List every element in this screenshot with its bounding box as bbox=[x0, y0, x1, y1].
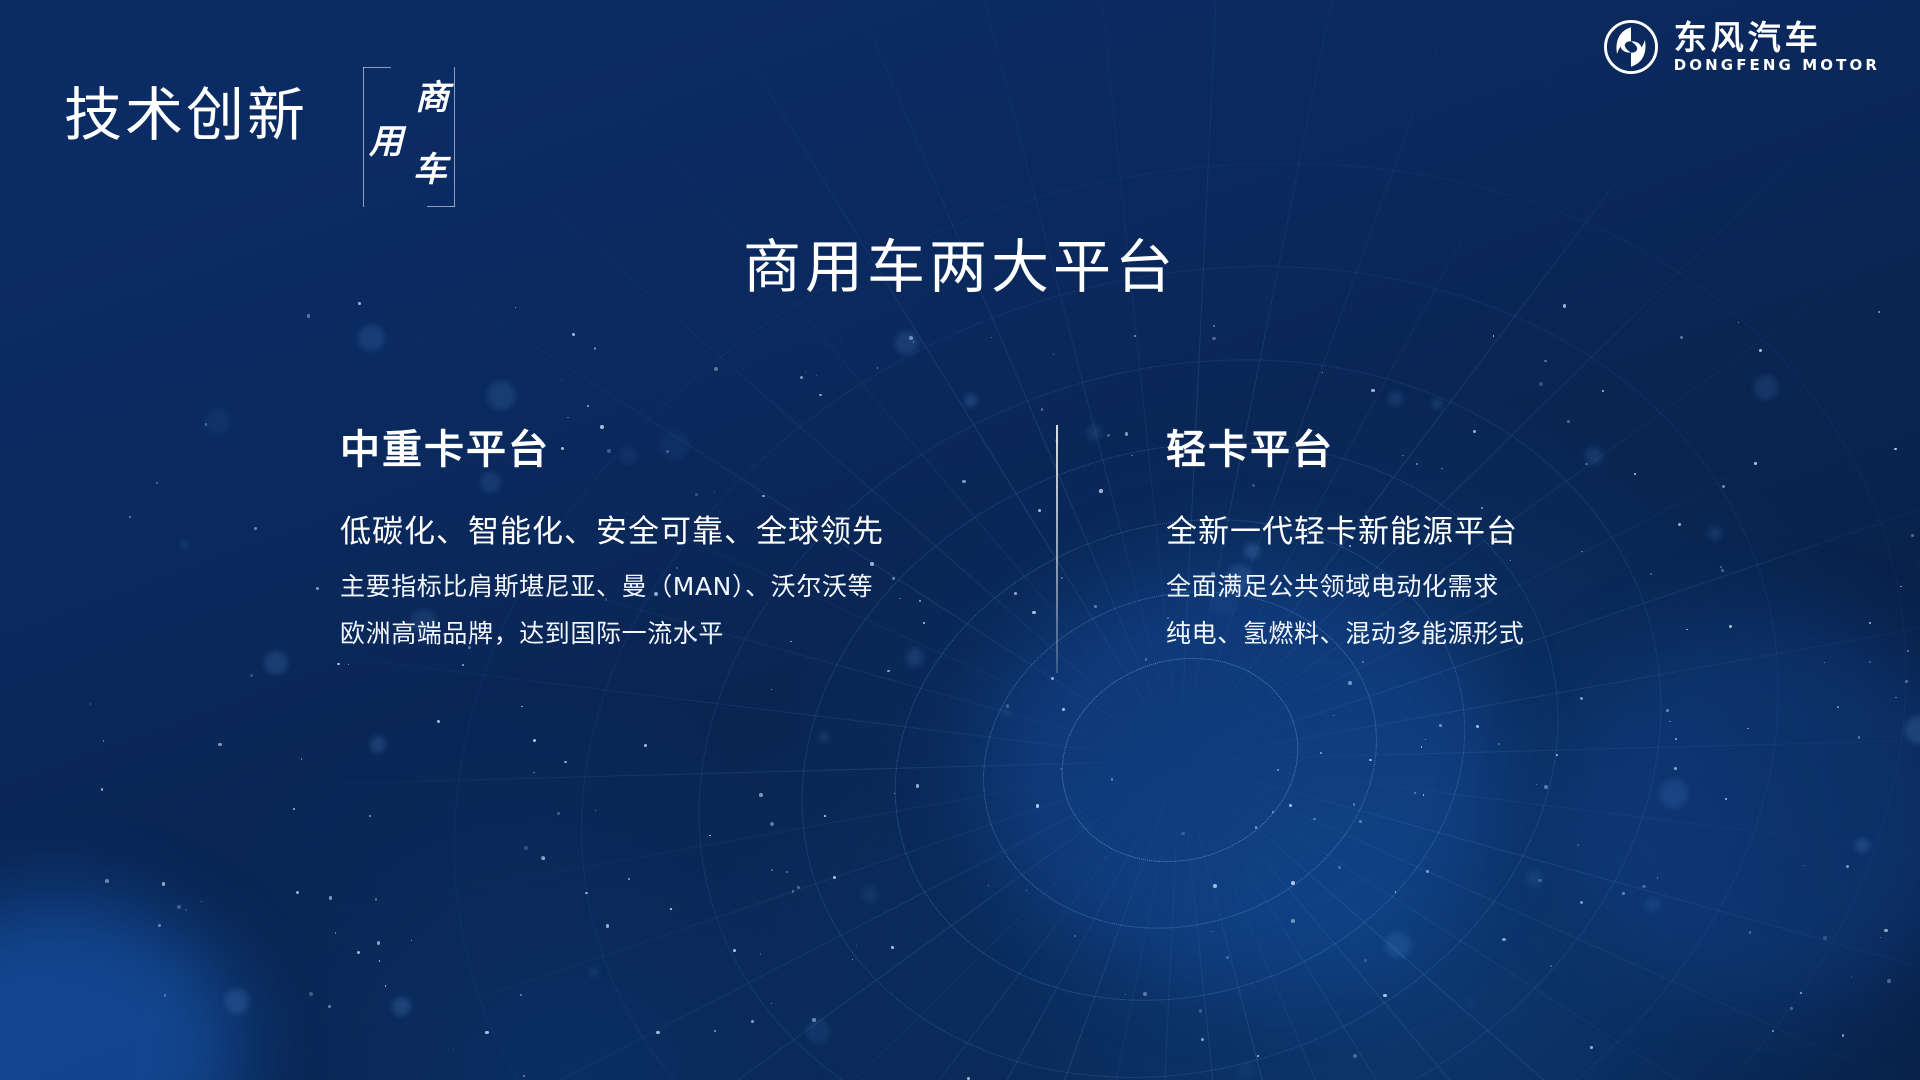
particle-dot bbox=[521, 706, 523, 708]
particle-dot bbox=[1657, 877, 1659, 879]
particle-dot bbox=[105, 879, 109, 883]
particle-dot bbox=[877, 367, 879, 369]
particle-dot bbox=[1905, 716, 1920, 745]
particle-dot bbox=[379, 960, 380, 961]
particle-dot bbox=[524, 846, 528, 850]
column-lead-text: 全新一代轻卡新能源平台 bbox=[1166, 517, 1806, 548]
particle-dot bbox=[792, 890, 795, 893]
particle-dot bbox=[1213, 325, 1215, 327]
particle-dot bbox=[1051, 677, 1054, 680]
particle-dot bbox=[991, 337, 992, 338]
particle-dot bbox=[375, 898, 378, 901]
particle-dot bbox=[369, 815, 371, 817]
particle-dot bbox=[1094, 605, 1097, 608]
particle-dot bbox=[771, 869, 774, 872]
dongfeng-emblem-icon bbox=[1602, 18, 1660, 76]
particle-dot bbox=[1383, 994, 1387, 998]
particle-dot bbox=[589, 968, 598, 977]
particle-dot bbox=[1369, 759, 1372, 762]
particle-dot bbox=[606, 924, 609, 927]
particle-dot bbox=[1272, 811, 1274, 813]
particle-dot bbox=[824, 815, 825, 816]
particle-dot bbox=[805, 371, 806, 372]
particle-dot bbox=[1038, 509, 1041, 512]
particle-dot bbox=[1502, 938, 1505, 941]
particle-dot bbox=[185, 909, 187, 911]
particle-dot bbox=[1421, 746, 1423, 748]
particle-dot bbox=[733, 949, 736, 952]
particle-dot bbox=[162, 882, 166, 886]
particle-dot bbox=[1823, 936, 1827, 940]
particle-dot bbox=[819, 394, 822, 397]
particle-dot bbox=[1338, 866, 1341, 869]
particle-dot bbox=[800, 376, 803, 379]
particle-dot bbox=[1388, 391, 1403, 406]
particle-dot bbox=[1759, 349, 1762, 352]
logo-text-en: DONGFENG MOTOR bbox=[1674, 58, 1880, 73]
particle-dot bbox=[437, 720, 440, 723]
particle-dot bbox=[1255, 826, 1258, 829]
particle-dot bbox=[90, 703, 92, 705]
particle-dot bbox=[392, 997, 411, 1016]
particle-dot bbox=[1580, 901, 1583, 904]
particle-dot bbox=[103, 740, 105, 742]
particle-dot bbox=[316, 587, 319, 590]
particle-dot bbox=[1466, 998, 1476, 1008]
particle-dot bbox=[1359, 820, 1362, 823]
particle-dot bbox=[377, 941, 380, 944]
particle-dot bbox=[561, 380, 562, 381]
particle-dot bbox=[1887, 979, 1891, 983]
particle-dot bbox=[587, 405, 589, 407]
particle-dot bbox=[1590, 1046, 1593, 1049]
particle-dot bbox=[1061, 577, 1063, 579]
particle-dot bbox=[819, 732, 829, 742]
particle-dot bbox=[543, 858, 545, 860]
particle-dot bbox=[1014, 592, 1017, 595]
particle-dot bbox=[1353, 1054, 1357, 1058]
particle-dot bbox=[533, 772, 534, 773]
particle-dot bbox=[585, 892, 587, 894]
particle-dot bbox=[1544, 360, 1546, 362]
particle-dot bbox=[1313, 818, 1316, 821]
seal-char-shang: 商 bbox=[415, 81, 449, 115]
particle-dot bbox=[1900, 586, 1902, 588]
particle-dot bbox=[1772, 1030, 1774, 1032]
particle-dot bbox=[1556, 754, 1558, 756]
particle-dot bbox=[856, 945, 857, 946]
particle-dot bbox=[759, 793, 763, 797]
particle-dot bbox=[1837, 706, 1839, 708]
particle-dot bbox=[840, 341, 841, 342]
particle-dot bbox=[1907, 650, 1909, 652]
particle-dot bbox=[600, 425, 604, 429]
platform-column-medium-heavy-truck: 中重卡平台 低碳化、智能化、安全可靠、全球领先 主要指标比肩斯堪尼亚、曼（MAN… bbox=[340, 430, 1000, 668]
column-heading: 中重卡平台 bbox=[340, 430, 1000, 470]
logo-text-cn: 东风汽车 bbox=[1674, 21, 1880, 54]
particle-dot bbox=[1804, 865, 1805, 866]
main-heading: 商用车两大平台 bbox=[0, 238, 1920, 296]
particle-dot bbox=[370, 736, 386, 752]
particle-dot bbox=[1201, 1038, 1204, 1041]
particle-dot bbox=[751, 1020, 754, 1023]
particle-dot bbox=[335, 932, 337, 934]
glow-bottom-left bbox=[0, 900, 240, 1080]
seal-commercial-vehicle: 商 用 车 bbox=[363, 67, 455, 207]
particle-dot bbox=[1725, 798, 1727, 800]
particle-dot bbox=[1237, 1061, 1256, 1080]
particle-dot bbox=[1107, 434, 1109, 436]
particle-dot bbox=[1646, 898, 1659, 911]
particle-dot bbox=[1800, 992, 1802, 994]
particle-dot bbox=[572, 333, 575, 336]
particle-dot bbox=[557, 812, 560, 815]
particle-dot bbox=[358, 302, 361, 305]
particle-dot bbox=[1125, 432, 1128, 435]
particle-dot bbox=[1111, 778, 1113, 780]
particle-dot bbox=[218, 743, 221, 746]
particle-dot bbox=[1790, 1007, 1792, 1009]
column-detail-line: 纯电、氢燃料、混动多能源形式 bbox=[1166, 621, 1806, 646]
particle-dot bbox=[916, 784, 919, 787]
particle-dot bbox=[1680, 336, 1683, 339]
particle-dot bbox=[1131, 455, 1132, 456]
particle-dot bbox=[520, 994, 522, 996]
particle-dot bbox=[1824, 662, 1825, 663]
particle-dot bbox=[770, 822, 774, 826]
particle-dot bbox=[786, 871, 788, 873]
seal-char-yong: 用 bbox=[369, 125, 403, 159]
particle-dot bbox=[567, 417, 569, 419]
particle-dot bbox=[656, 1031, 659, 1034]
particle-dot bbox=[1320, 752, 1322, 754]
column-heading: 轻卡平台 bbox=[1166, 430, 1806, 470]
glow-far-right bbox=[1560, 620, 1920, 1000]
brand-logo: 东风汽车 DONGFENG MOTOR bbox=[1602, 18, 1880, 76]
particle-dot bbox=[852, 959, 853, 960]
particle-dot bbox=[1851, 976, 1853, 978]
particle-dot bbox=[1622, 892, 1624, 894]
particle-dot bbox=[1567, 420, 1570, 423]
particle-dot bbox=[158, 924, 161, 927]
particle-dot bbox=[670, 908, 671, 909]
particle-dot bbox=[201, 901, 202, 902]
particle-dot bbox=[1125, 994, 1126, 995]
particle-dot bbox=[1895, 697, 1897, 699]
particle-dot bbox=[1062, 708, 1065, 711]
particle-dot bbox=[909, 336, 913, 340]
particle-dot bbox=[156, 482, 158, 484]
particle-dot bbox=[1000, 706, 1012, 718]
particle-dot bbox=[385, 985, 387, 987]
particle-dot bbox=[812, 1018, 815, 1021]
particle-dot bbox=[1539, 382, 1543, 386]
seal-char-che: 车 bbox=[413, 153, 447, 187]
particle-dot bbox=[1134, 335, 1136, 337]
particle-dot bbox=[1181, 832, 1185, 836]
particle-dot bbox=[913, 341, 914, 342]
particle-dot bbox=[564, 761, 566, 763]
particle-dot bbox=[891, 946, 894, 949]
particle-dot bbox=[1675, 738, 1677, 740]
particle-dot bbox=[967, 1077, 970, 1080]
particle-dot bbox=[1550, 965, 1552, 967]
particle-dot bbox=[1041, 408, 1043, 410]
particle-dot bbox=[205, 408, 231, 434]
particle-dot bbox=[453, 1049, 454, 1050]
particle-dot bbox=[1257, 1055, 1259, 1057]
particle-dot bbox=[1880, 937, 1881, 938]
particle-dot bbox=[1087, 425, 1102, 440]
particle-dot bbox=[816, 375, 817, 376]
particle-dot bbox=[1869, 661, 1870, 662]
particle-dot bbox=[894, 793, 895, 794]
particle-dot bbox=[1498, 743, 1500, 745]
particle-dot bbox=[797, 886, 800, 889]
particle-dot bbox=[293, 808, 295, 810]
particle-dot bbox=[1099, 489, 1103, 493]
particle-dot bbox=[628, 878, 630, 880]
particle-dot bbox=[1371, 389, 1375, 393]
particle-dot bbox=[1353, 803, 1355, 805]
particle-dot bbox=[1364, 959, 1367, 962]
particle-dot bbox=[1426, 870, 1429, 873]
particle-dot bbox=[1026, 890, 1027, 891]
particle-dot bbox=[1425, 739, 1426, 740]
particle-dot bbox=[523, 1075, 525, 1077]
particle-dot bbox=[1439, 724, 1442, 727]
particle-dot bbox=[358, 325, 385, 352]
particle-dot bbox=[1199, 1009, 1202, 1012]
particle-dot bbox=[988, 885, 989, 886]
particle-dot bbox=[1414, 792, 1416, 794]
logo-wordmark: 东风汽车 DONGFENG MOTOR bbox=[1674, 21, 1880, 73]
particle-dot bbox=[1544, 785, 1548, 789]
particle-dot bbox=[485, 1031, 489, 1035]
particle-dot bbox=[1032, 611, 1035, 614]
particle-dot bbox=[594, 347, 596, 349]
particle-dot bbox=[1145, 658, 1147, 660]
particle-dot bbox=[177, 905, 181, 909]
particle-dot bbox=[1878, 311, 1880, 313]
particle-dot bbox=[1322, 372, 1323, 373]
particle-dot bbox=[1602, 390, 1603, 391]
particle-dot bbox=[1747, 728, 1748, 729]
particle-dot bbox=[1060, 768, 1062, 770]
particle-dot bbox=[861, 886, 879, 904]
particle-dot bbox=[771, 1003, 772, 1004]
platform-column-light-truck: 轻卡平台 全新一代轻卡新能源平台 全面满足公共领域电动化需求 纯电、氢燃料、混动… bbox=[1166, 430, 1806, 668]
particle-dot bbox=[760, 953, 761, 954]
particle-dot bbox=[533, 739, 536, 742]
particle-dot bbox=[1053, 354, 1054, 355]
particle-dot bbox=[1212, 931, 1214, 933]
particle-dot bbox=[411, 940, 412, 941]
particle-dot bbox=[418, 341, 419, 342]
particle-dot bbox=[1660, 779, 1688, 807]
particle-dot bbox=[357, 951, 360, 954]
column-detail-line: 主要指标比肩斯堪尼亚、曼（MAN）、沃尔沃等 bbox=[340, 574, 1000, 599]
particle-dot bbox=[1911, 534, 1914, 537]
particle-dot bbox=[1213, 884, 1217, 888]
particle-dot bbox=[1642, 885, 1646, 889]
particle-dot bbox=[1006, 704, 1009, 707]
page-title: 技术创新 bbox=[64, 86, 308, 144]
particle-dot bbox=[264, 651, 288, 675]
particle-dot bbox=[1423, 794, 1425, 796]
particle-dot bbox=[1884, 929, 1887, 932]
particle-dot bbox=[1846, 865, 1849, 868]
column-divider bbox=[1056, 425, 1058, 673]
particle-dot bbox=[964, 394, 976, 406]
particle-dot bbox=[595, 810, 596, 811]
particle-dot bbox=[1669, 721, 1670, 722]
particle-dot bbox=[714, 1030, 716, 1032]
particle-dot bbox=[771, 689, 773, 691]
particle-dot bbox=[1291, 919, 1295, 923]
particle-dot bbox=[1291, 881, 1295, 885]
particle-dot bbox=[1476, 725, 1479, 728]
column-detail-line: 全面满足公共领域电动化需求 bbox=[1166, 574, 1806, 599]
particle-dot bbox=[515, 307, 516, 308]
particle-dot bbox=[301, 758, 303, 760]
particle-dot bbox=[1226, 956, 1229, 959]
column-lead-text: 低碳化、智能化、安全可靠、全球领先 bbox=[340, 517, 1000, 548]
particle-dot bbox=[1395, 891, 1397, 893]
particle-dot bbox=[1289, 804, 1292, 807]
particle-dot bbox=[1754, 375, 1778, 399]
particle-dot bbox=[101, 788, 104, 791]
particle-dot bbox=[1538, 879, 1542, 883]
particle-dot bbox=[225, 989, 250, 1014]
particle-dot bbox=[1348, 681, 1352, 685]
particle-dot bbox=[129, 516, 131, 518]
particle-dot bbox=[1536, 784, 1537, 785]
particle-dot bbox=[1493, 335, 1494, 336]
particle-dot bbox=[1526, 870, 1543, 887]
particle-dot bbox=[1036, 804, 1039, 807]
particle-dot bbox=[296, 891, 300, 895]
particle-dot bbox=[1580, 697, 1584, 701]
particle-dot bbox=[1577, 844, 1579, 846]
particle-dot bbox=[1385, 932, 1411, 958]
particle-dot bbox=[833, 876, 836, 879]
particle-dot bbox=[254, 527, 257, 530]
particle-dot bbox=[895, 331, 919, 355]
particle-dot bbox=[1277, 769, 1280, 772]
particle-dot bbox=[307, 314, 310, 317]
particle-dot bbox=[1143, 992, 1147, 996]
slide-canvas: 技术创新 商 用 车 东风汽车 DONGFENG MOTOR 商用车两大平台 bbox=[0, 0, 1920, 1080]
column-detail-line: 欧洲高端品牌，达到国际一流水平 bbox=[340, 621, 1000, 646]
particle-dot bbox=[1858, 736, 1861, 739]
particle-dot bbox=[309, 992, 313, 996]
particle-dot bbox=[179, 539, 189, 549]
particle-dot bbox=[487, 381, 516, 410]
particle-dot bbox=[1905, 680, 1907, 682]
particle-dot bbox=[1074, 935, 1077, 938]
particle-dot bbox=[1212, 337, 1215, 340]
particle-dot bbox=[1432, 399, 1441, 408]
particle-dot bbox=[250, 674, 253, 677]
particle-dot bbox=[328, 1005, 331, 1008]
particle-dot bbox=[1563, 304, 1566, 307]
particle-dot bbox=[1666, 709, 1669, 712]
particle-dot bbox=[644, 744, 647, 747]
particle-dot bbox=[1869, 622, 1871, 624]
particle-dot bbox=[1855, 838, 1870, 853]
particle-dot bbox=[1333, 715, 1335, 717]
particle-dot bbox=[887, 670, 889, 672]
particle-dot bbox=[709, 835, 710, 836]
particle-dot bbox=[1894, 448, 1896, 450]
particle-dot bbox=[1738, 322, 1739, 323]
particle-dot bbox=[714, 367, 718, 371]
particle-dot bbox=[164, 994, 166, 996]
particle-dot bbox=[806, 1019, 830, 1043]
particle-dot bbox=[541, 856, 545, 860]
seal-characters: 商 用 车 bbox=[363, 67, 455, 207]
particle-dot bbox=[329, 896, 332, 899]
particle-dot bbox=[205, 423, 208, 426]
particle-dot bbox=[1674, 767, 1677, 770]
particle-dot bbox=[1749, 931, 1751, 933]
particle-dot bbox=[1105, 856, 1106, 857]
particle-dot bbox=[1842, 1034, 1845, 1037]
